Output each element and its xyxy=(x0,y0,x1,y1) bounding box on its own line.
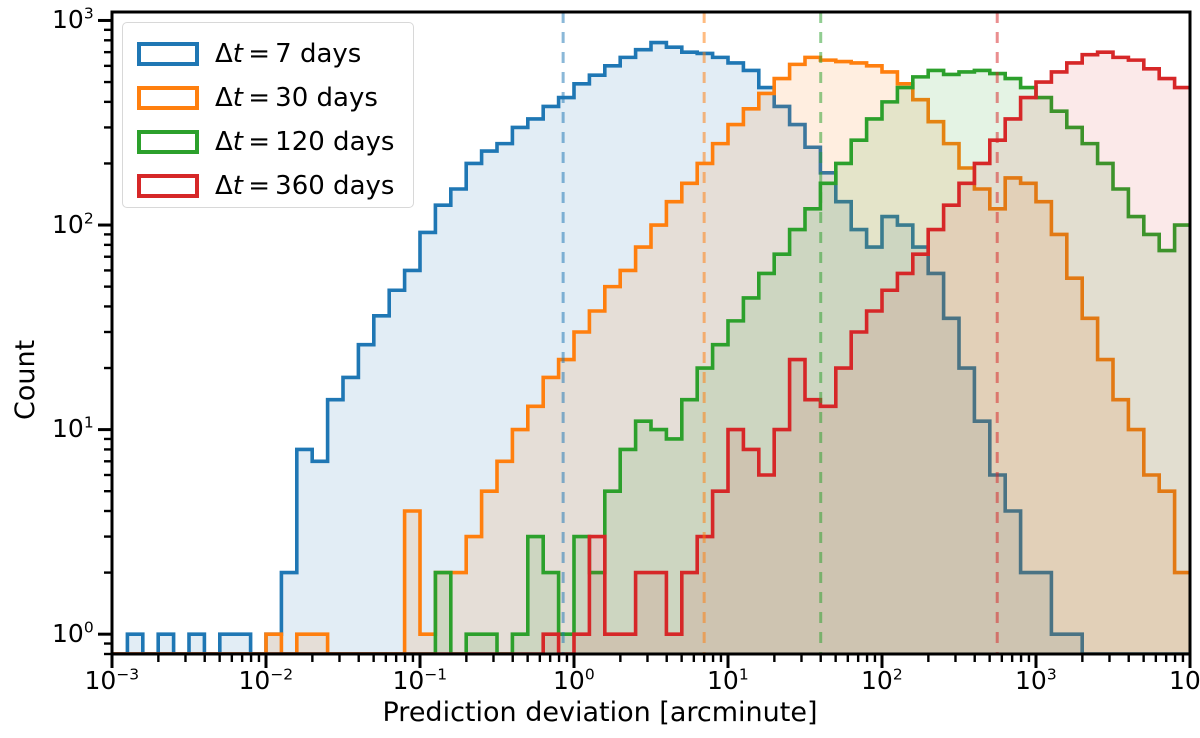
legend-item-2[interactable]: Δt = 120 days xyxy=(137,119,394,165)
x-tick-label-7: 104 xyxy=(1169,666,1200,695)
legend-swatch-icon-3 xyxy=(137,174,199,198)
x-tick-label-3: 100 xyxy=(553,666,595,695)
legend-swatch-icon-2 xyxy=(137,130,199,154)
legend-label-1: Δt = 30 days xyxy=(215,83,378,113)
x-tick-label-4: 101 xyxy=(707,666,749,695)
legend-item-1[interactable]: Δt = 30 days xyxy=(137,75,378,121)
legend-item-3[interactable]: Δt = 360 days xyxy=(137,163,394,209)
x-tick-label-6: 103 xyxy=(1015,666,1057,695)
legend-label-2: Δt = 120 days xyxy=(215,127,394,157)
x-tick-label-5: 102 xyxy=(861,666,903,695)
legend-label-3: Δt = 360 days xyxy=(215,171,394,201)
x-tick-label-0: 10−3 xyxy=(85,666,140,695)
x-axis-label: Prediction deviation [arcminute] xyxy=(0,697,1200,728)
y-tick-label-3: 103 xyxy=(52,5,94,34)
legend-item-0[interactable]: Δt = 7 days xyxy=(137,31,361,77)
legend: Δt = 7 daysΔt = 30 daysΔt = 120 daysΔt =… xyxy=(122,22,414,208)
y-tick-label-0: 100 xyxy=(52,619,94,648)
y-axis-label: Count xyxy=(10,340,41,420)
legend-swatch-icon-1 xyxy=(137,86,199,110)
figure-container: Prediction deviation [arcminute] Count 1… xyxy=(0,0,1200,738)
legend-swatch-icon-0 xyxy=(137,42,199,66)
y-tick-label-1: 101 xyxy=(52,414,94,443)
legend-label-0: Δt = 7 days xyxy=(215,39,361,69)
y-tick-label-2: 102 xyxy=(52,210,94,239)
x-tick-label-1: 10−2 xyxy=(239,666,294,695)
x-tick-label-2: 10−1 xyxy=(393,666,448,695)
